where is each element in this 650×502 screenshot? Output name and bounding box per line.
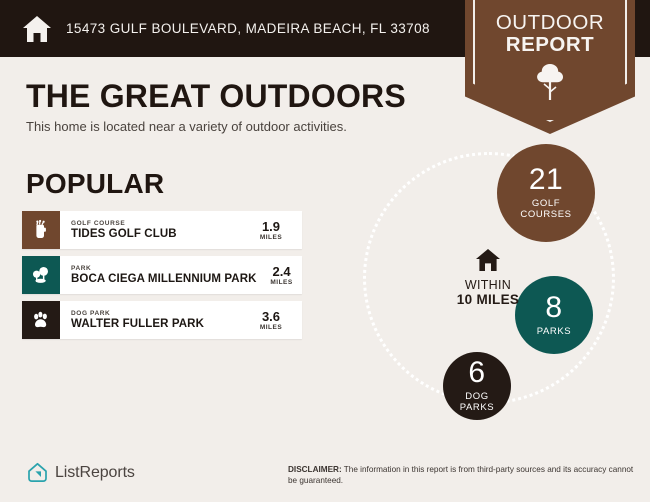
bubble-label: GOLF COURSES <box>520 199 571 220</box>
listreports-logo-icon <box>27 462 48 483</box>
property-address: 15473 GULF BOULEVARD, MADEIRA BEACH, FL … <box>66 21 430 36</box>
list-item-distance: 3.6 MILES <box>246 301 302 339</box>
list-item-name: WALTER FULLER PARK <box>71 318 246 330</box>
disclaimer-label: DISCLAIMER: <box>288 465 342 474</box>
badge-line-1: OUTDOOR <box>465 12 635 34</box>
distance-unit: MILES <box>270 279 292 286</box>
badge-line-2: REPORT <box>465 34 635 56</box>
tree-icon <box>533 62 567 102</box>
distance-value: 1.9 <box>262 219 280 234</box>
bubble-label-line-2: PARKS <box>460 403 495 414</box>
list-item-body: GOLF COURSE TIDES GOLF CLUB <box>60 211 246 249</box>
list-item-body: DOG PARK WALTER FULLER PARK <box>60 301 246 339</box>
bubble-label-line-2: COURSES <box>520 210 571 221</box>
list-item-name: TIDES GOLF CLUB <box>71 228 246 240</box>
chart-center-label: WITHIN 10 MILES <box>433 248 543 307</box>
bubble-value: 21 <box>529 165 563 195</box>
list-item[interactable]: PARK BOCA CIEGA MILLENNIUM PARK 2.4 MILE… <box>22 256 302 294</box>
park-trees-icon <box>30 264 52 286</box>
golf-bag-icon <box>30 219 52 241</box>
popular-heading: POPULAR <box>26 168 164 200</box>
home-icon <box>475 248 501 272</box>
bubble-label: DOG PARKS <box>460 392 495 413</box>
list-item-body: PARK BOCA CIEGA MILLENNIUM PARK <box>60 256 257 294</box>
distance-value: 3.6 <box>262 309 280 324</box>
list-item-distance: 2.4 MILES <box>257 256 313 294</box>
bubble-value: 8 <box>545 293 562 323</box>
list-item[interactable]: DOG PARK WALTER FULLER PARK 3.6 MILES <box>22 301 302 339</box>
list-item[interactable]: GOLF COURSE TIDES GOLF CLUB 1.9 MILES <box>22 211 302 249</box>
golf-bag-icon-tile <box>22 211 60 249</box>
page-title: THE GREAT OUTDOORS <box>26 78 406 115</box>
list-item-category: PARK <box>71 265 257 272</box>
list-item-category: DOG PARK <box>71 310 246 317</box>
bubble-golf-courses: 21 GOLF COURSES <box>497 144 595 242</box>
list-item-category: GOLF COURSE <box>71 220 246 227</box>
distance-unit: MILES <box>260 234 282 241</box>
center-label-line-1: WITHIN <box>433 278 543 292</box>
bubble-dog-parks: 6 DOG PARKS <box>443 352 511 420</box>
bubble-value: 6 <box>468 358 485 388</box>
badge-text: OUTDOOR REPORT <box>465 12 635 55</box>
listreports-logo-text: ListReports <box>55 464 135 482</box>
listreports-logo[interactable]: ListReports <box>27 462 135 483</box>
center-label-line-2: 10 MILES <box>433 292 543 307</box>
paw-print-icon-tile <box>22 301 60 339</box>
paw-print-icon <box>30 309 52 331</box>
outdoor-report-page: 15473 GULF BOULEVARD, MADEIRA BEACH, FL … <box>0 0 650 502</box>
list-item-distance: 1.9 MILES <box>246 211 302 249</box>
amenities-bubble-chart: 21 GOLF COURSES 8 PARKS 6 DOG PARKS WITH… <box>355 140 650 440</box>
page-subtitle: This home is located near a variety of o… <box>26 119 347 134</box>
home-icon <box>22 15 52 43</box>
bubble-label: PARKS <box>537 327 572 338</box>
distance-unit: MILES <box>260 324 282 331</box>
distance-value: 2.4 <box>272 264 290 279</box>
list-item-name: BOCA CIEGA MILLENNIUM PARK <box>71 273 257 285</box>
popular-list: GOLF COURSE TIDES GOLF CLUB 1.9 MILES PA… <box>22 211 302 346</box>
park-trees-icon-tile <box>22 256 60 294</box>
disclaimer: DISCLAIMER: The information in this repo… <box>288 464 640 486</box>
